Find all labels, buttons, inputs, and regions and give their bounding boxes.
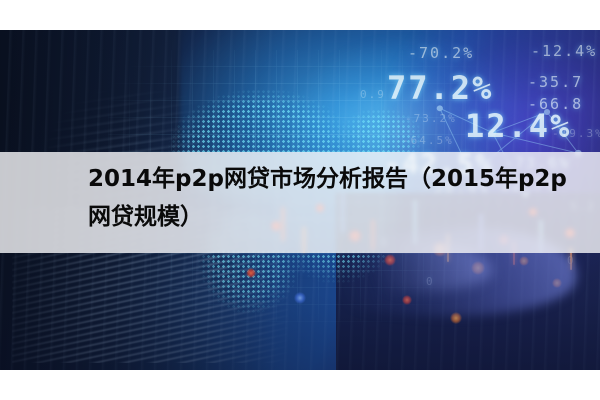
bottom-white-margin [0,370,600,400]
page-title: 2014年p2p网贷市场分析报告（2015年p2p网贷规模） [88,160,588,236]
top-white-margin [0,0,600,30]
thumbnail-canvas: -70.2%-12.4%77.2%-35.7-66.8-73.2%12.4%-6… [0,0,600,400]
